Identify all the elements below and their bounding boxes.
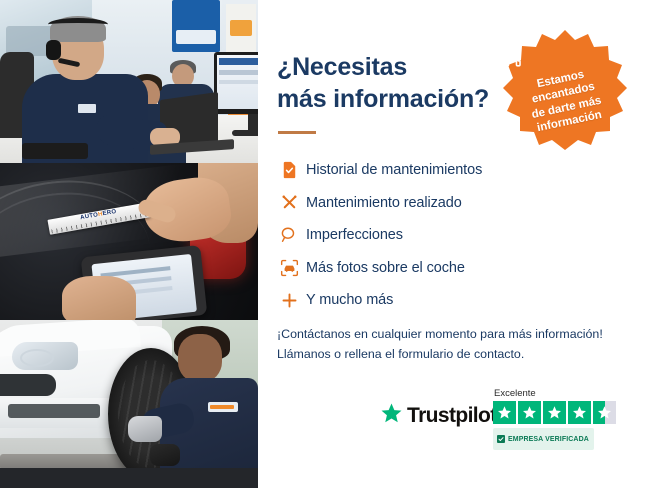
- feature-label: Más fotos sobre el coche: [306, 260, 465, 276]
- trustpilot-stars: [493, 401, 629, 424]
- page-title: ¿Necesitas más información?: [277, 52, 527, 115]
- feature-item-maintenance-done: Mantenimiento realizado: [272, 187, 562, 220]
- star-5-half: [593, 401, 616, 424]
- plus-icon: [272, 291, 306, 310]
- contact-text: ¡Contáctanos en cualquier momento para m…: [277, 324, 637, 364]
- page-title-line1: ¿Necesitas: [277, 52, 527, 84]
- feature-label: Imperfecciones: [306, 227, 403, 243]
- feature-list: Historial de mantenimientos Mantenimient…: [272, 154, 562, 317]
- feature-item-imperfections: Imperfecciones: [272, 219, 562, 252]
- feature-label: Mantenimiento realizado: [306, 195, 462, 211]
- star-1: [493, 401, 516, 424]
- contact-line2: Llámanos o rellena el formulario de cont…: [277, 344, 637, 364]
- star-3: [543, 401, 566, 424]
- support-badge: Estamos encantados de darte más informac…: [503, 28, 627, 152]
- star-2: [518, 401, 541, 424]
- verified-company-label: EMPRESA VERIFICADA: [508, 436, 589, 443]
- trustpilot-logo[interactable]: Trustpilot: [380, 402, 497, 429]
- verified-company-badge: EMPRESA VERIFICADA: [493, 428, 594, 450]
- tools-wrench-screwdriver-icon: [272, 193, 306, 212]
- feature-label: Historial de mantenimientos: [306, 162, 482, 178]
- feature-item-much-more: Y mucho más: [272, 284, 562, 317]
- photo-column: AUTOHERO: [0, 0, 258, 488]
- verified-check-icon: [497, 430, 505, 448]
- trustpilot-rating-label: Excelente: [494, 388, 629, 399]
- star-4: [568, 401, 591, 424]
- trustpilot-score-block: Excelente: [493, 388, 629, 450]
- title-divider: [278, 131, 316, 134]
- car-scan-icon: [272, 259, 306, 277]
- magnifier-icon: [272, 226, 306, 244]
- feature-label: Y mucho más: [306, 292, 393, 308]
- feature-item-maintenance-history: Historial de mantenimientos: [272, 154, 562, 187]
- mechanic-wheel-photo: [0, 320, 258, 488]
- information-banner: AUTOHERO: [0, 0, 650, 488]
- contact-line1: ¡Contáctanos en cualquier momento para m…: [277, 324, 637, 344]
- car-inspection-ruler-photo: AUTOHERO: [0, 163, 258, 320]
- trustpilot-star-icon: [380, 402, 403, 429]
- trustpilot-rating[interactable]: Trustpilot Excelente: [380, 388, 630, 450]
- page-title-line2: más información?: [277, 84, 527, 116]
- maintenance-history-icon: [272, 161, 306, 179]
- trustpilot-wordmark: Trustpilot: [407, 404, 497, 428]
- call-center-agents-photo: [0, 0, 258, 163]
- feature-item-more-photos: Más fotos sobre el coche: [272, 252, 562, 285]
- content-panel: ¿Necesitas más información? Estamos enca…: [258, 0, 650, 488]
